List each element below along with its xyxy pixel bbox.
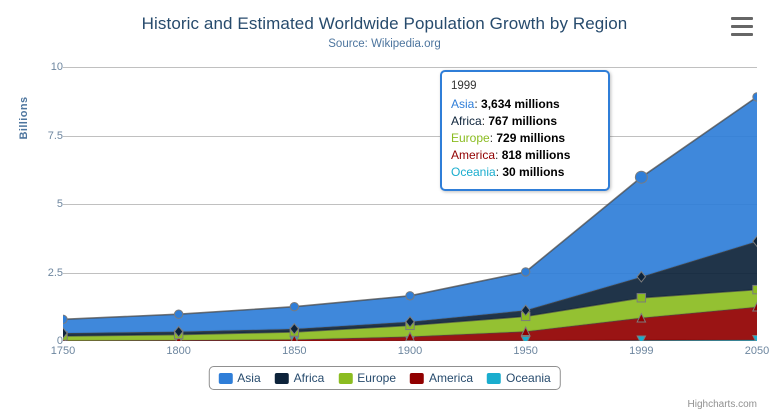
legend-swatch-icon: [218, 373, 232, 384]
legend-item-america[interactable]: America: [410, 371, 473, 385]
legend-item-africa[interactable]: Africa: [275, 371, 325, 385]
tooltip-series-name: Africa: [451, 114, 482, 128]
y-axis-tick-label: 10: [3, 61, 63, 73]
tooltip-series-value: 729 millions: [496, 131, 565, 145]
hamburger-bar-1: [731, 17, 753, 20]
tooltip-row: Oceania: 30 millions: [451, 164, 599, 181]
legend-item-oceania[interactable]: Oceania: [487, 371, 551, 385]
chart-legend: AsiaAfricaEuropeAmericaOceania: [208, 366, 560, 390]
marker-europe-2050[interactable]: [753, 285, 757, 293]
marker-asia-1850[interactable]: [290, 302, 298, 310]
hamburger-bar-3: [731, 33, 753, 36]
marker-asia-1950[interactable]: [521, 268, 529, 276]
highcharts-credits[interactable]: Highcharts.com: [688, 399, 757, 410]
legend-swatch-icon: [487, 373, 501, 384]
tooltip: 1999 Asia: 3,634 millionsAfrica: 767 mil…: [440, 70, 610, 191]
marker-europe-1999[interactable]: [637, 294, 645, 302]
tooltip-series-value: 818 millions: [502, 148, 571, 162]
tooltip-series-name: Oceania: [451, 165, 496, 179]
marker-asia-1900[interactable]: [406, 292, 414, 300]
chart-subtitle: Source: Wikipedia.org: [0, 38, 769, 50]
tooltip-series-name: Asia: [451, 97, 474, 111]
y-axis-title: Billions: [18, 68, 30, 168]
hamburger-bar-2: [731, 25, 753, 28]
legend-swatch-icon: [338, 373, 352, 384]
marker-asia-1750[interactable]: [63, 315, 67, 323]
tooltip-series-value: 3,634 millions: [481, 97, 560, 111]
x-axis-tick-label: 1800: [149, 345, 209, 357]
legend-item-label: Europe: [357, 371, 396, 385]
x-axis-tick-label: 1750: [33, 345, 93, 357]
legend-item-label: Oceania: [506, 371, 551, 385]
x-axis-tick-label: 2050: [727, 345, 769, 357]
x-axis-tick-label: 1950: [496, 345, 556, 357]
tooltip-row: Europe: 729 millions: [451, 130, 599, 147]
tooltip-header: 1999: [451, 78, 599, 95]
hamburger-menu-icon[interactable]: [731, 17, 753, 36]
tooltip-series-value: 30 millions: [502, 165, 564, 179]
tooltip-row: America: 818 millions: [451, 147, 599, 164]
tooltip-series-name: Europe: [451, 131, 490, 145]
tooltip-row: Africa: 767 millions: [451, 113, 599, 130]
y-axis-tick-label: 7.5: [3, 130, 63, 142]
tooltip-separator: :: [495, 148, 502, 162]
marker-asia-2050[interactable]: [753, 93, 757, 101]
legend-item-label: Africa: [294, 371, 325, 385]
legend-item-europe[interactable]: Europe: [338, 371, 396, 385]
legend-item-label: Asia: [237, 371, 260, 385]
legend-swatch-icon: [410, 373, 424, 384]
plot-area: [63, 67, 757, 341]
chart-title: Historic and Estimated Worldwide Populat…: [0, 14, 769, 34]
x-axis-tick-label: 1900: [380, 345, 440, 357]
highcharts-container: Historic and Estimated Worldwide Populat…: [0, 0, 769, 416]
y-axis-tick-label: 5: [3, 198, 63, 210]
marker-asia-1800[interactable]: [174, 310, 182, 318]
tooltip-series-value: 767 millions: [488, 114, 557, 128]
legend-swatch-icon: [275, 373, 289, 384]
legend-item-label: America: [429, 371, 473, 385]
tooltip-row: Asia: 3,634 millions: [451, 96, 599, 113]
marker-asia-1999[interactable]: [635, 171, 647, 183]
tooltip-series-name: America: [451, 148, 495, 162]
tooltip-separator: :: [474, 97, 481, 111]
y-axis-tick-label: 2.5: [3, 267, 63, 279]
x-axis-tick-label: 1850: [264, 345, 324, 357]
legend-item-asia[interactable]: Asia: [218, 371, 260, 385]
tooltip-rows: Asia: 3,634 millionsAfrica: 767 millions…: [451, 96, 599, 181]
x-axis-tick-label: 1999: [611, 345, 671, 357]
area-chart-svg: [63, 67, 757, 341]
